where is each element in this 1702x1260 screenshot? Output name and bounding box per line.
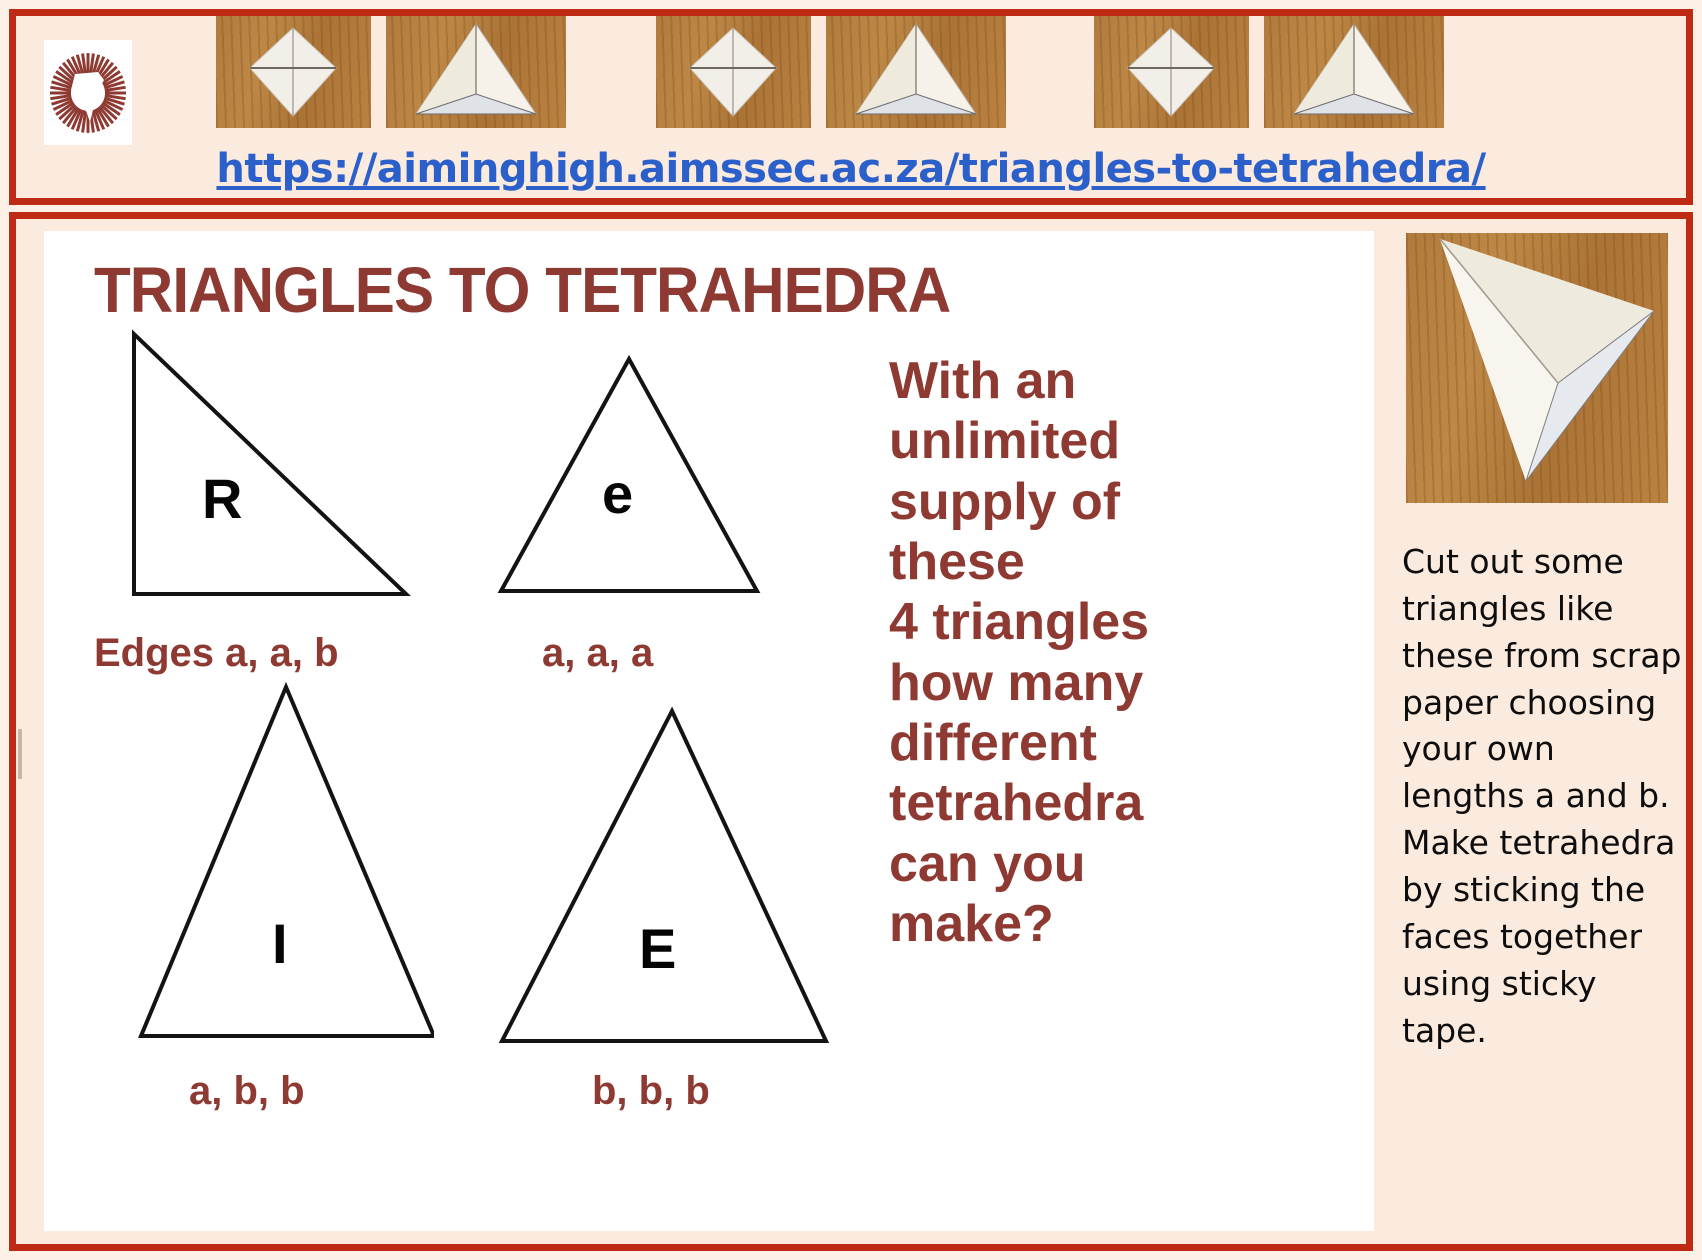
photo-net-1 [216,16,371,128]
photo-net-3 [1094,16,1249,128]
question-line-2: unlimited [889,411,1219,471]
triangle-E: E [474,701,834,1061]
instructions-text: Cut out some triangles like these from s… [1402,539,1682,1054]
question-line-10: make? [889,894,1219,954]
left-edge-marker [18,729,22,779]
net-shape-1 [216,16,371,128]
triangle-e: e [484,351,774,601]
triangle-E-edges: b, b, b [592,1069,710,1114]
triangle-R-edges: Edges a, a, b [94,631,339,676]
tetrahedron-shape-3 [1264,16,1444,128]
finished-tetrahedron-shape [1406,233,1668,503]
photo-tetrahedron-3 [1264,16,1444,128]
question-text: With an unlimited supply of these 4 tria… [889,351,1219,954]
page-title: TRIANGLES TO TETRAHEDRA [94,253,950,327]
question-line-7: different [889,713,1219,773]
net-shape-3 [1094,16,1249,128]
africa-logo-icon [49,50,127,136]
photo-finished-tetrahedron [1406,233,1668,503]
question-line-4: these [889,532,1219,592]
triangle-I: I [134,681,434,1051]
triangle-I-shape [134,681,434,1051]
url-container: https://aiminghigh.aimssec.ac.za/triangl… [16,146,1686,192]
photo-net-2 [656,16,811,128]
aimssec-africa-logo [44,40,132,145]
question-line-6: how many [889,653,1219,713]
poster-page: https://aiminghigh.aimssec.ac.za/triangl… [0,0,1702,1260]
question-line-3: supply of [889,472,1219,532]
net-shape-2 [656,16,811,128]
triangle-R: R [124,326,424,606]
top-banner: https://aiminghigh.aimssec.ac.za/triangl… [9,9,1693,205]
triangle-e-letter: e [602,461,633,526]
triangle-E-letter: E [639,916,676,981]
triangle-R-letter: R [202,466,242,531]
question-line-8: tetrahedra [889,773,1219,833]
main-content-frame: TRIANGLES TO TETRAHEDRA R Edges a, a, b … [9,212,1693,1251]
triangle-e-edges: a, a, a [542,631,653,676]
lesson-url-link[interactable]: https://aiminghigh.aimssec.ac.za/triangl… [216,146,1485,192]
question-line-1: With an [889,351,1219,411]
photo-tetrahedron-2 [826,16,1006,128]
photo-tetrahedron-1 [386,16,566,128]
triangle-E-shape [474,701,834,1061]
triangle-I-letter: I [272,911,288,976]
worksheet-card: TRIANGLES TO TETRAHEDRA R Edges a, a, b … [44,231,1374,1231]
tetrahedron-shape-2 [826,16,1006,128]
triangle-R-shape [124,326,424,606]
tetrahedron-shape-1 [386,16,566,128]
question-line-9: can you [889,834,1219,894]
question-line-5: 4 triangles [889,592,1219,652]
triangle-I-edges: a, b, b [189,1069,305,1114]
